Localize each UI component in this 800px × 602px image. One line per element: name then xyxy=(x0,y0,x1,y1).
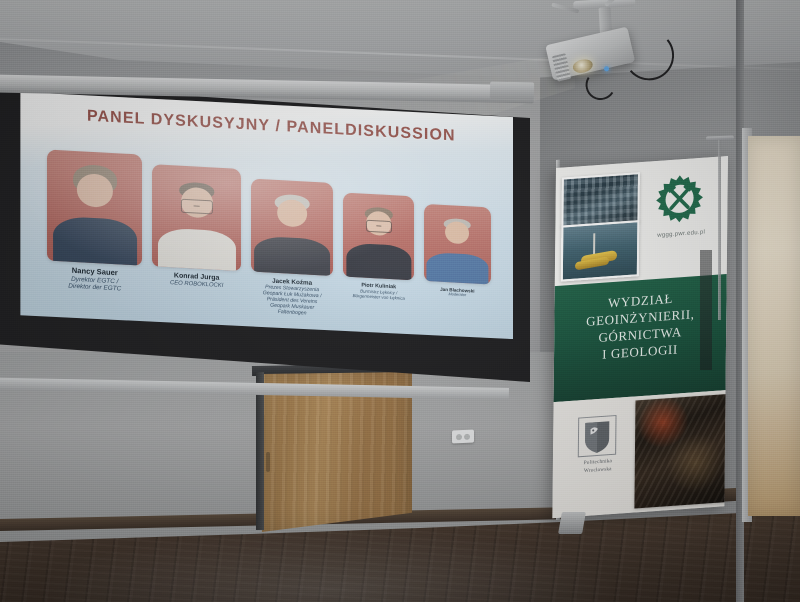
portrait-body xyxy=(158,228,236,271)
catamaran-mast xyxy=(593,233,595,255)
portrait-body xyxy=(427,252,488,284)
portrait-head xyxy=(278,200,308,228)
portrait-glasses xyxy=(181,198,213,214)
banner-photo-mine-interior xyxy=(634,394,727,509)
banner-heading: WYDZIAŁ GEOINŻYNIERII, GÓRNICTWA I GEOLO… xyxy=(560,286,721,366)
door-edge xyxy=(256,372,264,530)
portrait-body xyxy=(255,236,331,276)
panelist-caption: Jan Blachowski Moderator xyxy=(424,286,491,300)
portrait-body xyxy=(53,216,137,265)
projection-screen: PANEL DYSKUSYJNY / PANELDISKUSSION xyxy=(0,52,530,382)
panelist-portrait xyxy=(251,179,333,276)
banner-base-stand xyxy=(558,512,586,534)
panelist-portrait-row xyxy=(47,150,491,284)
crossed-mining-hammers-logo xyxy=(651,171,708,227)
banner-university-name: Politechnika Wrocławska xyxy=(565,457,631,477)
wall-power-outlet[interactable] xyxy=(452,430,474,444)
conference-room-scene: PANEL DYSKUSYJNY / PANELDISKUSSION xyxy=(0,0,800,602)
university-line: Politechnika xyxy=(584,458,612,466)
portrait-body xyxy=(346,243,411,280)
slide-canvas: PANEL DYSKUSYJNY / PANELDISKUSSION xyxy=(20,88,513,339)
banner-url: wggg.pwr.edu.pl xyxy=(643,229,719,240)
portrait-head xyxy=(446,221,470,244)
wall-recess xyxy=(700,250,712,370)
screen-housing-end-cap xyxy=(490,82,534,100)
panelist-portrait xyxy=(424,205,491,285)
panelist-portrait xyxy=(47,150,142,266)
panelist-caption: Nancy Sauer Dyrektor EGTC / Direktor der… xyxy=(47,265,142,294)
outlet-socket xyxy=(456,434,462,440)
slide-content: PANEL DYSKUSYJNY / PANELDISKUSSION xyxy=(20,88,513,339)
panelist-caption: Konrad Jurga CEO ROBOKLOCKI xyxy=(153,271,242,291)
outlet-socket xyxy=(464,433,470,439)
door-handle[interactable] xyxy=(266,452,270,472)
banner-photo-survey-catamaran xyxy=(561,220,640,282)
panelist-caption: Piotr Kuliniak Burmistrz Łęknicy / Bürge… xyxy=(344,281,415,302)
politechnika-wroclawska-crest xyxy=(577,414,617,459)
banner-bottom-section: Politechnika Wrocławska xyxy=(552,390,725,518)
slide-title: PANEL DYSKUSYJNY / PANELDISKUSSION xyxy=(65,107,479,147)
portrait-glasses xyxy=(366,220,392,233)
glass-doorway[interactable] xyxy=(748,136,800,516)
panelist-portrait xyxy=(153,164,242,270)
university-line: Wrocławska xyxy=(584,466,612,474)
panelist-portrait xyxy=(344,192,415,280)
wall-conduit xyxy=(718,140,721,320)
banner-photo-faculty-building xyxy=(561,172,640,227)
catamaran-hull xyxy=(575,257,610,271)
panelist-caption: Jacek Koźma Prezes Stowarzyszenia Geopar… xyxy=(251,276,333,319)
projector-vent xyxy=(552,53,571,81)
